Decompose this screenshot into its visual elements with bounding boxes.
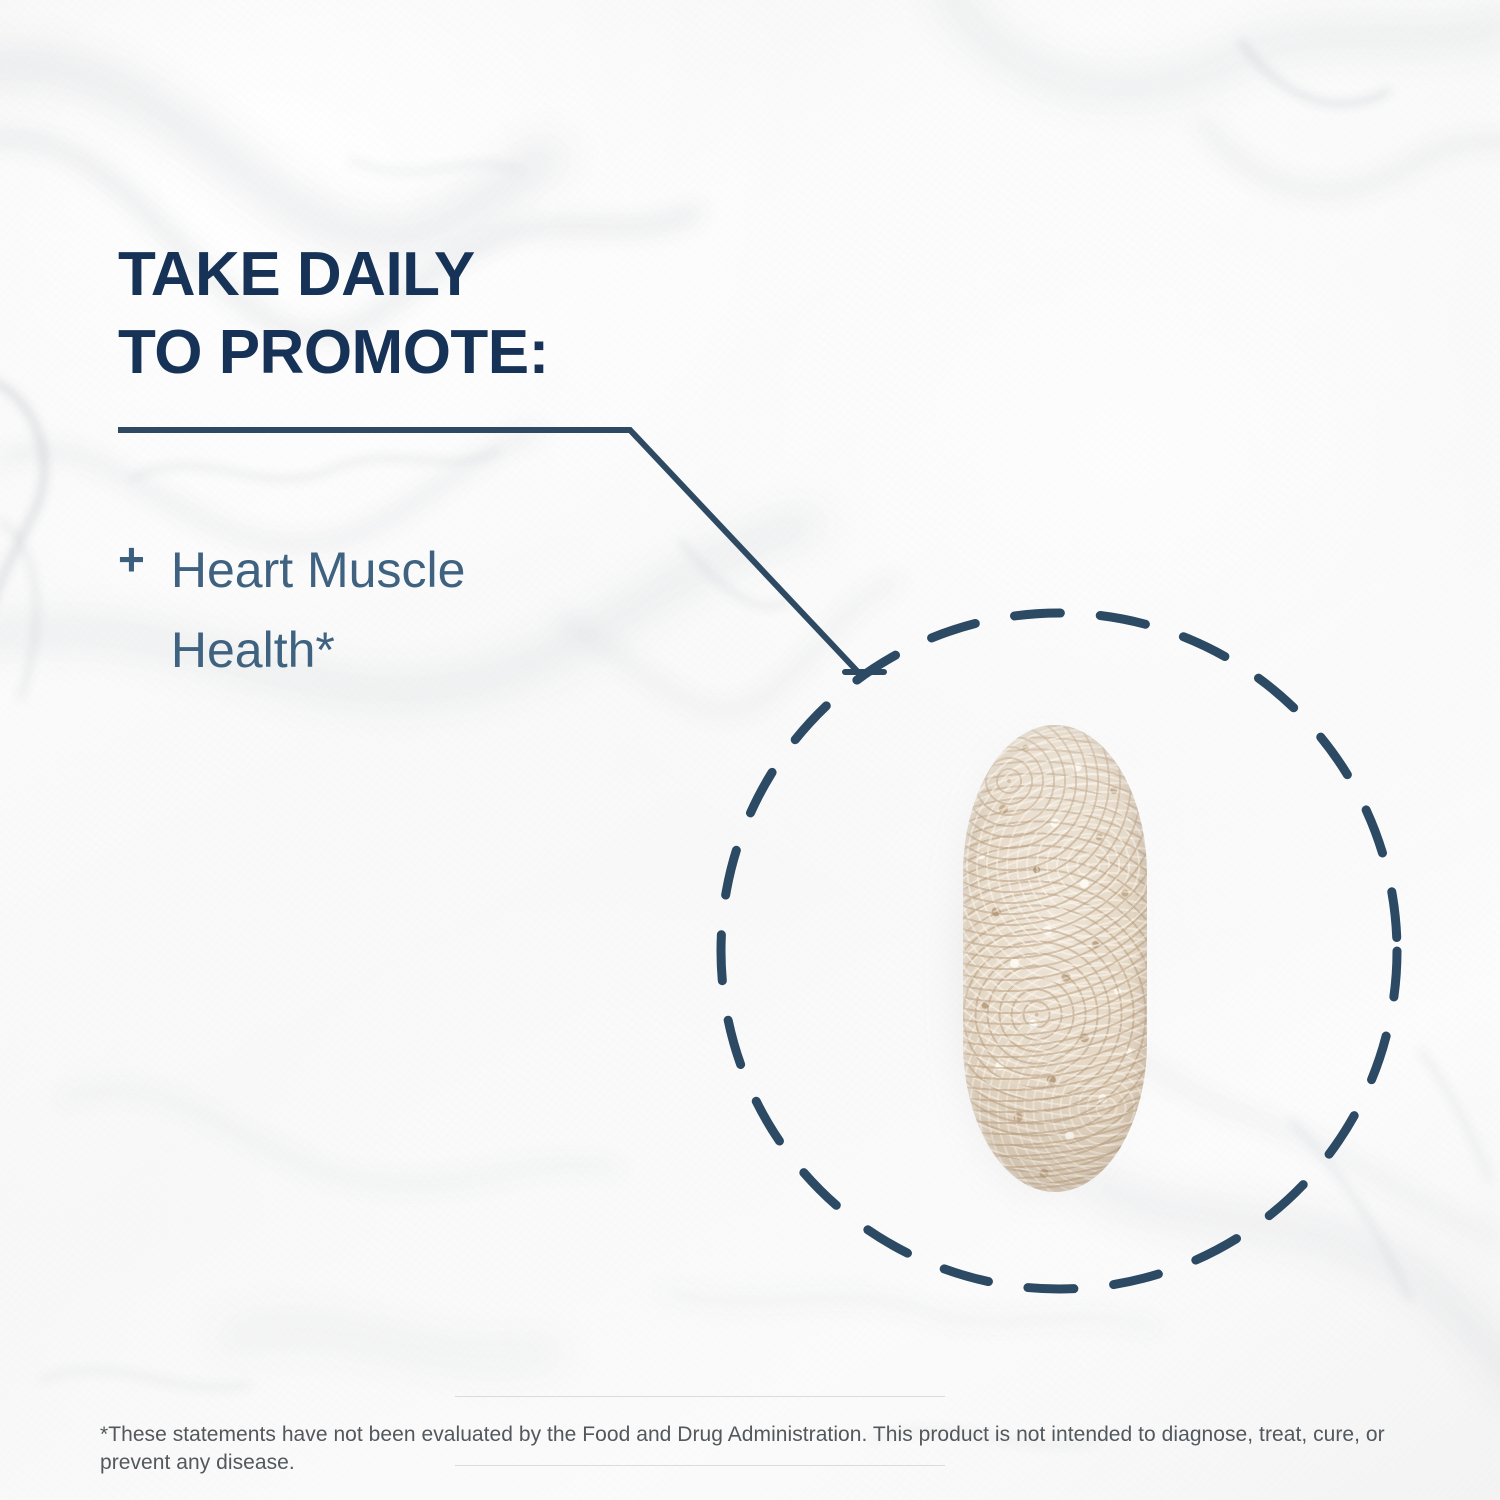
benefit-label: Heart Muscle Health* [171, 530, 466, 690]
fda-disclaimer: *These statements have not been evaluate… [100, 1421, 1420, 1477]
plus-icon: + [118, 530, 145, 588]
divider-below-disclaimer [455, 1465, 945, 1466]
divider-above-disclaimer [455, 1396, 945, 1397]
benefit-item: + Heart Muscle Health* [118, 530, 638, 690]
tablet-sheen [963, 725, 1147, 1192]
supplement-tablet [963, 725, 1147, 1192]
product-benefit-panel: TAKE DAILY TO PROMOTE: + Heart Muscle He… [0, 0, 1500, 1500]
